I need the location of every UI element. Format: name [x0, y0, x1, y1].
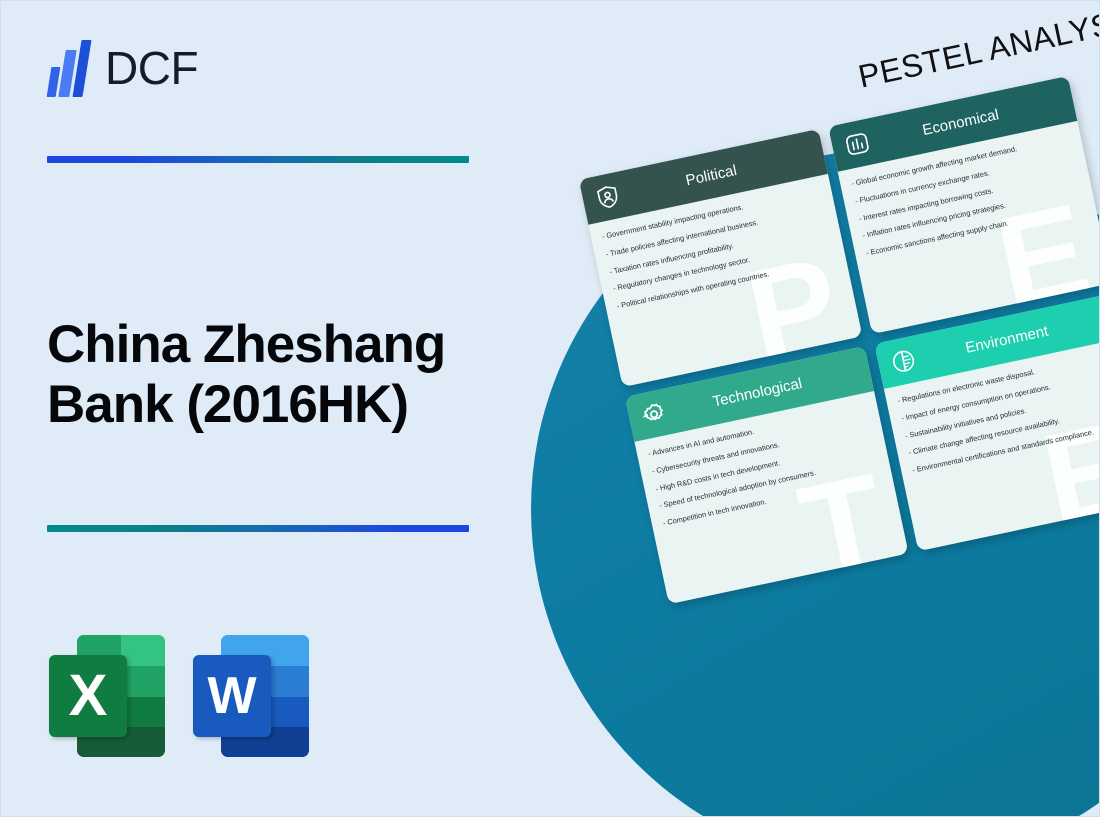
- pestel-card-grid: Political P Government stability impacti…: [579, 76, 1100, 610]
- page-root: DCF China Zheshang Bank (2016HK) X W: [0, 0, 1100, 817]
- pestel-card-economical[interactable]: Economical E Global economic growth affe…: [828, 76, 1100, 334]
- pestel-card-political[interactable]: Political P Government stability impacti…: [579, 129, 863, 387]
- word-icon[interactable]: W: [193, 633, 309, 759]
- excel-icon[interactable]: X: [49, 633, 165, 759]
- brand-name: DCF: [105, 45, 198, 91]
- page-title: China Zheshang Bank (2016HK): [47, 315, 497, 436]
- word-letter: W: [193, 655, 271, 737]
- logo-bar-3: [72, 40, 91, 97]
- divider-bottom: [47, 525, 469, 532]
- file-format-icons: X W: [49, 633, 309, 759]
- excel-letter: X: [49, 655, 127, 737]
- pestel-card-technological[interactable]: Technological T Advances in AI and autom…: [625, 346, 909, 604]
- pestel-artwork: PESTEL ANALYSIS Political P: [501, 1, 1100, 817]
- brand-logo: DCF: [47, 39, 198, 97]
- dcf-bars-logo-icon: [47, 39, 93, 97]
- pestel-card-environment[interactable]: Environment E Regulations on electronic …: [874, 293, 1100, 551]
- left-panel: DCF China Zheshang Bank (2016HK) X W: [1, 1, 521, 817]
- divider-top: [47, 156, 469, 163]
